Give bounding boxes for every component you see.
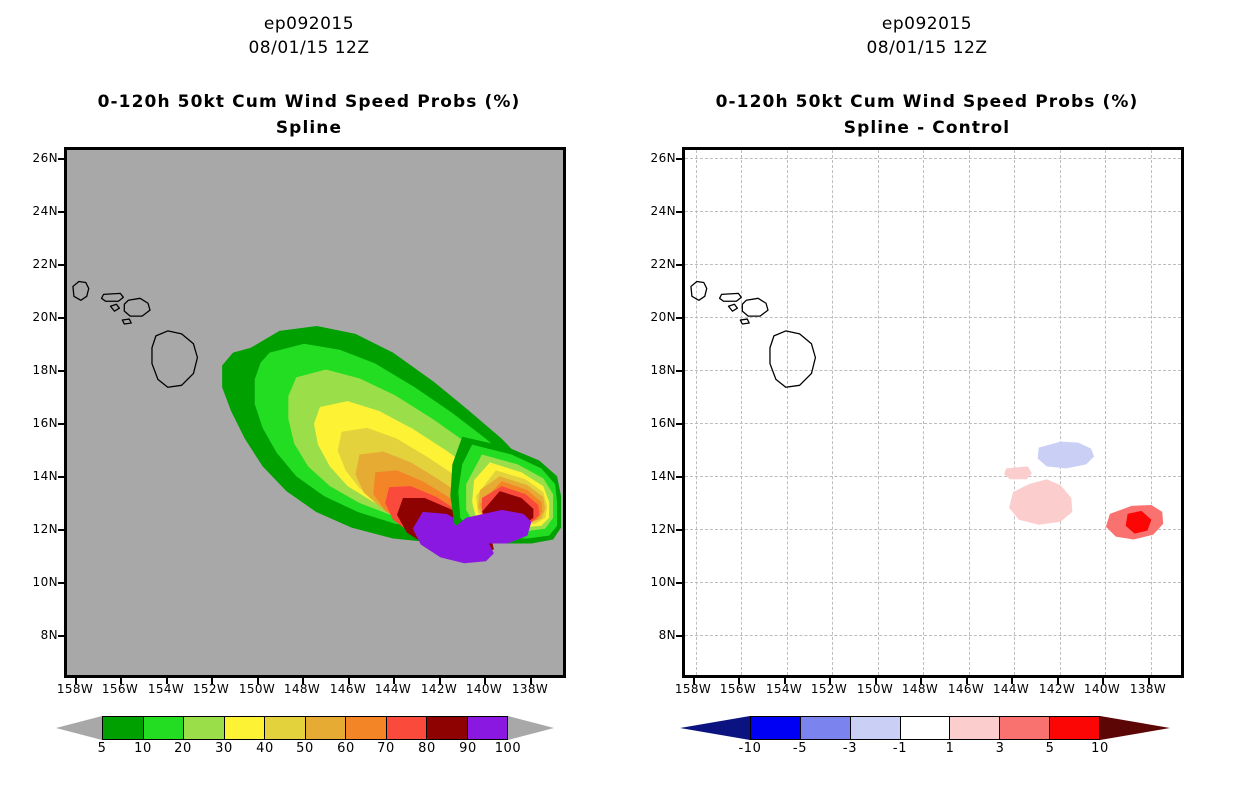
- xtick-right-144W: [1011, 678, 1013, 684]
- xtick-right-156W: [738, 678, 740, 684]
- ylabel-right-8N: 8N: [636, 628, 676, 642]
- xlabel-158W: 158W: [52, 682, 98, 696]
- ylabel-18N: 18N: [18, 363, 58, 377]
- ytick-8N: [58, 635, 64, 637]
- colorbar-diff-ticklabels: -10 -5 -3 -1 1 3 5 10: [668, 741, 1178, 759]
- ytick-16N: [58, 423, 64, 425]
- xtick-right-146W: [966, 678, 968, 684]
- panel-spline: ep092015 08/01/15 12Z 0-120h 50kt Cum Wi…: [0, 0, 618, 800]
- xlabel-right-150W: 150W: [852, 682, 898, 696]
- cbtick-80: 80: [418, 741, 436, 756]
- ylabel-right-18N: 18N: [636, 363, 676, 377]
- ylabel-right-14N: 14N: [636, 469, 676, 483]
- cbtick-5: 5: [98, 741, 107, 756]
- colorbar-probability[interactable]: 5 10 20 30 40 50 60 70 80 90 100: [50, 716, 560, 740]
- xtick-right-154W: [784, 678, 786, 684]
- hawaiian-islands-outline-right: [685, 150, 1181, 675]
- cbar-diff-cell-neg5: [801, 717, 851, 739]
- cbtick-50: 50: [296, 741, 314, 756]
- ytick-right-22N: [676, 264, 682, 266]
- cbar-cell-40: [265, 717, 306, 739]
- cbtick-100: 100: [495, 741, 522, 756]
- storm-id: ep092015: [0, 14, 618, 34]
- colorbar-difference[interactable]: -10 -5 -3 -1 1 3 5 10: [668, 716, 1178, 740]
- panel-subtitle-right: Spline - Control: [618, 118, 1236, 138]
- ylabel-20N: 20N: [18, 310, 58, 324]
- xlabel-right-148W: 148W: [897, 682, 943, 696]
- cbar-diff-cell-neg1: [901, 717, 951, 739]
- xtick-142W: [439, 678, 441, 684]
- island-kauai-right: [691, 281, 707, 300]
- ylabel-14N: 14N: [18, 469, 58, 483]
- ytick-right-20N: [676, 317, 682, 319]
- xtick-right-142W: [1057, 678, 1059, 684]
- xlabel-146W: 146W: [325, 682, 371, 696]
- island-oahu-right: [720, 293, 742, 301]
- forecast-date: 08/01/15 12Z: [0, 38, 618, 58]
- cbtick-30: 30: [215, 741, 233, 756]
- xlabel-142W: 142W: [416, 682, 462, 696]
- cbtick-pos3: 3: [996, 741, 1005, 756]
- cbtick-neg1: -1: [893, 741, 907, 756]
- xlabel-right-142W: 142W: [1034, 682, 1080, 696]
- panel-title: 0-120h 50kt Cum Wind Speed Probs (%): [0, 92, 618, 112]
- xtick-right-148W: [920, 678, 922, 684]
- cbtick-neg3: -3: [843, 741, 857, 756]
- ylabel-right-12N: 12N: [636, 522, 676, 536]
- cbar-diff-cell-neg3: [851, 717, 901, 739]
- island-hawaii: [152, 331, 197, 387]
- colorbar-cells: [102, 716, 508, 740]
- ytick-18N: [58, 370, 64, 372]
- xlabel-right-152W: 152W: [806, 682, 852, 696]
- xtick-154W: [166, 678, 168, 684]
- colorbar-under-cap: [56, 716, 102, 740]
- cbtick-pos10: 10: [1091, 741, 1109, 756]
- ylabel-22N: 22N: [18, 257, 58, 271]
- ylabel-right-20N: 20N: [636, 310, 676, 324]
- ylabel-24N: 24N: [18, 204, 58, 218]
- ytick-12N: [58, 529, 64, 531]
- ytick-right-14N: [676, 476, 682, 478]
- xlabel-right-140W: 140W: [1079, 682, 1125, 696]
- ytick-right-8N: [676, 635, 682, 637]
- cbtick-pos1: 1: [946, 741, 955, 756]
- cbar-diff-cell-neg10: [751, 717, 801, 739]
- cbar-cell-10: [144, 717, 185, 739]
- cbtick-10: 10: [134, 741, 152, 756]
- ylabel-16N: 16N: [18, 416, 58, 430]
- colorbar-ticklabels: 5 10 20 30 40 50 60 70 80 90 100: [50, 741, 560, 759]
- cbtick-neg5: -5: [793, 741, 807, 756]
- cbar-cell-50: [306, 717, 347, 739]
- ytick-right-16N: [676, 423, 682, 425]
- cbtick-neg10: -10: [738, 741, 761, 756]
- hawaiian-islands-outline: [67, 150, 563, 675]
- ytick-right-24N: [676, 211, 682, 213]
- xtick-right-150W: [875, 678, 877, 684]
- cbar-cell-70: [387, 717, 428, 739]
- xtick-148W: [302, 678, 304, 684]
- ylabel-right-16N: 16N: [636, 416, 676, 430]
- ylabel-right-24N: 24N: [636, 204, 676, 218]
- ylabel-8N: 8N: [18, 628, 58, 642]
- colorbar-over-cap: [508, 716, 554, 740]
- cbtick-70: 70: [377, 741, 395, 756]
- ytick-22N: [58, 264, 64, 266]
- panel-subtitle: Spline: [0, 118, 618, 138]
- panel-title-right: 0-120h 50kt Cum Wind Speed Probs (%): [618, 92, 1236, 112]
- xlabel-right-138W: 138W: [1125, 682, 1171, 696]
- xlabel-152W: 152W: [188, 682, 234, 696]
- figure-root: ep092015 08/01/15 12Z 0-120h 50kt Cum Wi…: [0, 0, 1236, 800]
- ylabel-right-22N: 22N: [636, 257, 676, 271]
- ytick-24N: [58, 211, 64, 213]
- map-plot-difference[interactable]: [682, 147, 1184, 678]
- xlabel-140W: 140W: [461, 682, 507, 696]
- xlabel-154W: 154W: [143, 682, 189, 696]
- xlabel-right-146W: 146W: [943, 682, 989, 696]
- island-lanai-right: [740, 319, 749, 324]
- cbtick-40: 40: [256, 741, 274, 756]
- cbtick-60: 60: [337, 741, 355, 756]
- xlabel-144W: 144W: [370, 682, 416, 696]
- xtick-150W: [257, 678, 259, 684]
- cbar-cell-90: [468, 717, 508, 739]
- xlabel-138W: 138W: [507, 682, 553, 696]
- cbar-cell-30: [225, 717, 266, 739]
- cbar-cell-80: [427, 717, 468, 739]
- ylabel-26N: 26N: [18, 151, 58, 165]
- colorbar-diff-over-cap: [1100, 716, 1170, 740]
- xlabel-150W: 150W: [234, 682, 280, 696]
- xtick-right-152W: [829, 678, 831, 684]
- island-maui: [124, 298, 150, 316]
- storm-id-right: ep092015: [618, 14, 1236, 34]
- island-maui-right: [742, 298, 768, 316]
- ytick-right-26N: [676, 158, 682, 160]
- ytick-right-10N: [676, 582, 682, 584]
- cbtick-20: 20: [174, 741, 192, 756]
- xtick-152W: [211, 678, 213, 684]
- xtick-right-140W: [1102, 678, 1104, 684]
- cbtick-pos5: 5: [1046, 741, 1055, 756]
- ylabel-10N: 10N: [18, 575, 58, 589]
- xlabel-156W: 156W: [97, 682, 143, 696]
- island-lanai: [122, 319, 131, 324]
- forecast-date-right: 08/01/15 12Z: [618, 38, 1236, 58]
- colorbar-diff-under-cap: [680, 716, 750, 740]
- cbar-cell-60: [346, 717, 387, 739]
- xlabel-right-154W: 154W: [761, 682, 807, 696]
- island-molokai-right: [728, 304, 737, 311]
- panel-spline-minus-control: ep092015 08/01/15 12Z 0-120h 50kt Cum Wi…: [618, 0, 1236, 800]
- xtick-138W: [530, 678, 532, 684]
- ytick-26N: [58, 158, 64, 160]
- cbar-cell-5: [103, 717, 144, 739]
- map-plot-spline[interactable]: [64, 147, 566, 678]
- ytick-20N: [58, 317, 64, 319]
- cbar-diff-cell-3: [1000, 717, 1050, 739]
- cbar-cell-20: [184, 717, 225, 739]
- island-molokai: [110, 304, 119, 311]
- island-oahu: [102, 293, 124, 301]
- island-hawaii-right: [770, 331, 815, 387]
- ytick-right-18N: [676, 370, 682, 372]
- xlabel-right-144W: 144W: [988, 682, 1034, 696]
- xtick-right-158W: [693, 678, 695, 684]
- ytick-10N: [58, 582, 64, 584]
- xtick-158W: [75, 678, 77, 684]
- cbar-diff-cell-1: [950, 717, 1000, 739]
- xlabel-right-158W: 158W: [670, 682, 716, 696]
- xtick-144W: [393, 678, 395, 684]
- ylabel-right-26N: 26N: [636, 151, 676, 165]
- cbtick-90: 90: [459, 741, 477, 756]
- ytick-right-12N: [676, 529, 682, 531]
- ylabel-12N: 12N: [18, 522, 58, 536]
- island-kauai: [73, 281, 89, 300]
- xlabel-148W: 148W: [279, 682, 325, 696]
- xtick-156W: [120, 678, 122, 684]
- xtick-146W: [348, 678, 350, 684]
- cbar-diff-cell-5: [1050, 717, 1099, 739]
- ylabel-right-10N: 10N: [636, 575, 676, 589]
- ytick-14N: [58, 476, 64, 478]
- colorbar-diff-cells: [750, 716, 1100, 740]
- xlabel-right-156W: 156W: [715, 682, 761, 696]
- xtick-right-138W: [1148, 678, 1150, 684]
- xtick-140W: [484, 678, 486, 684]
